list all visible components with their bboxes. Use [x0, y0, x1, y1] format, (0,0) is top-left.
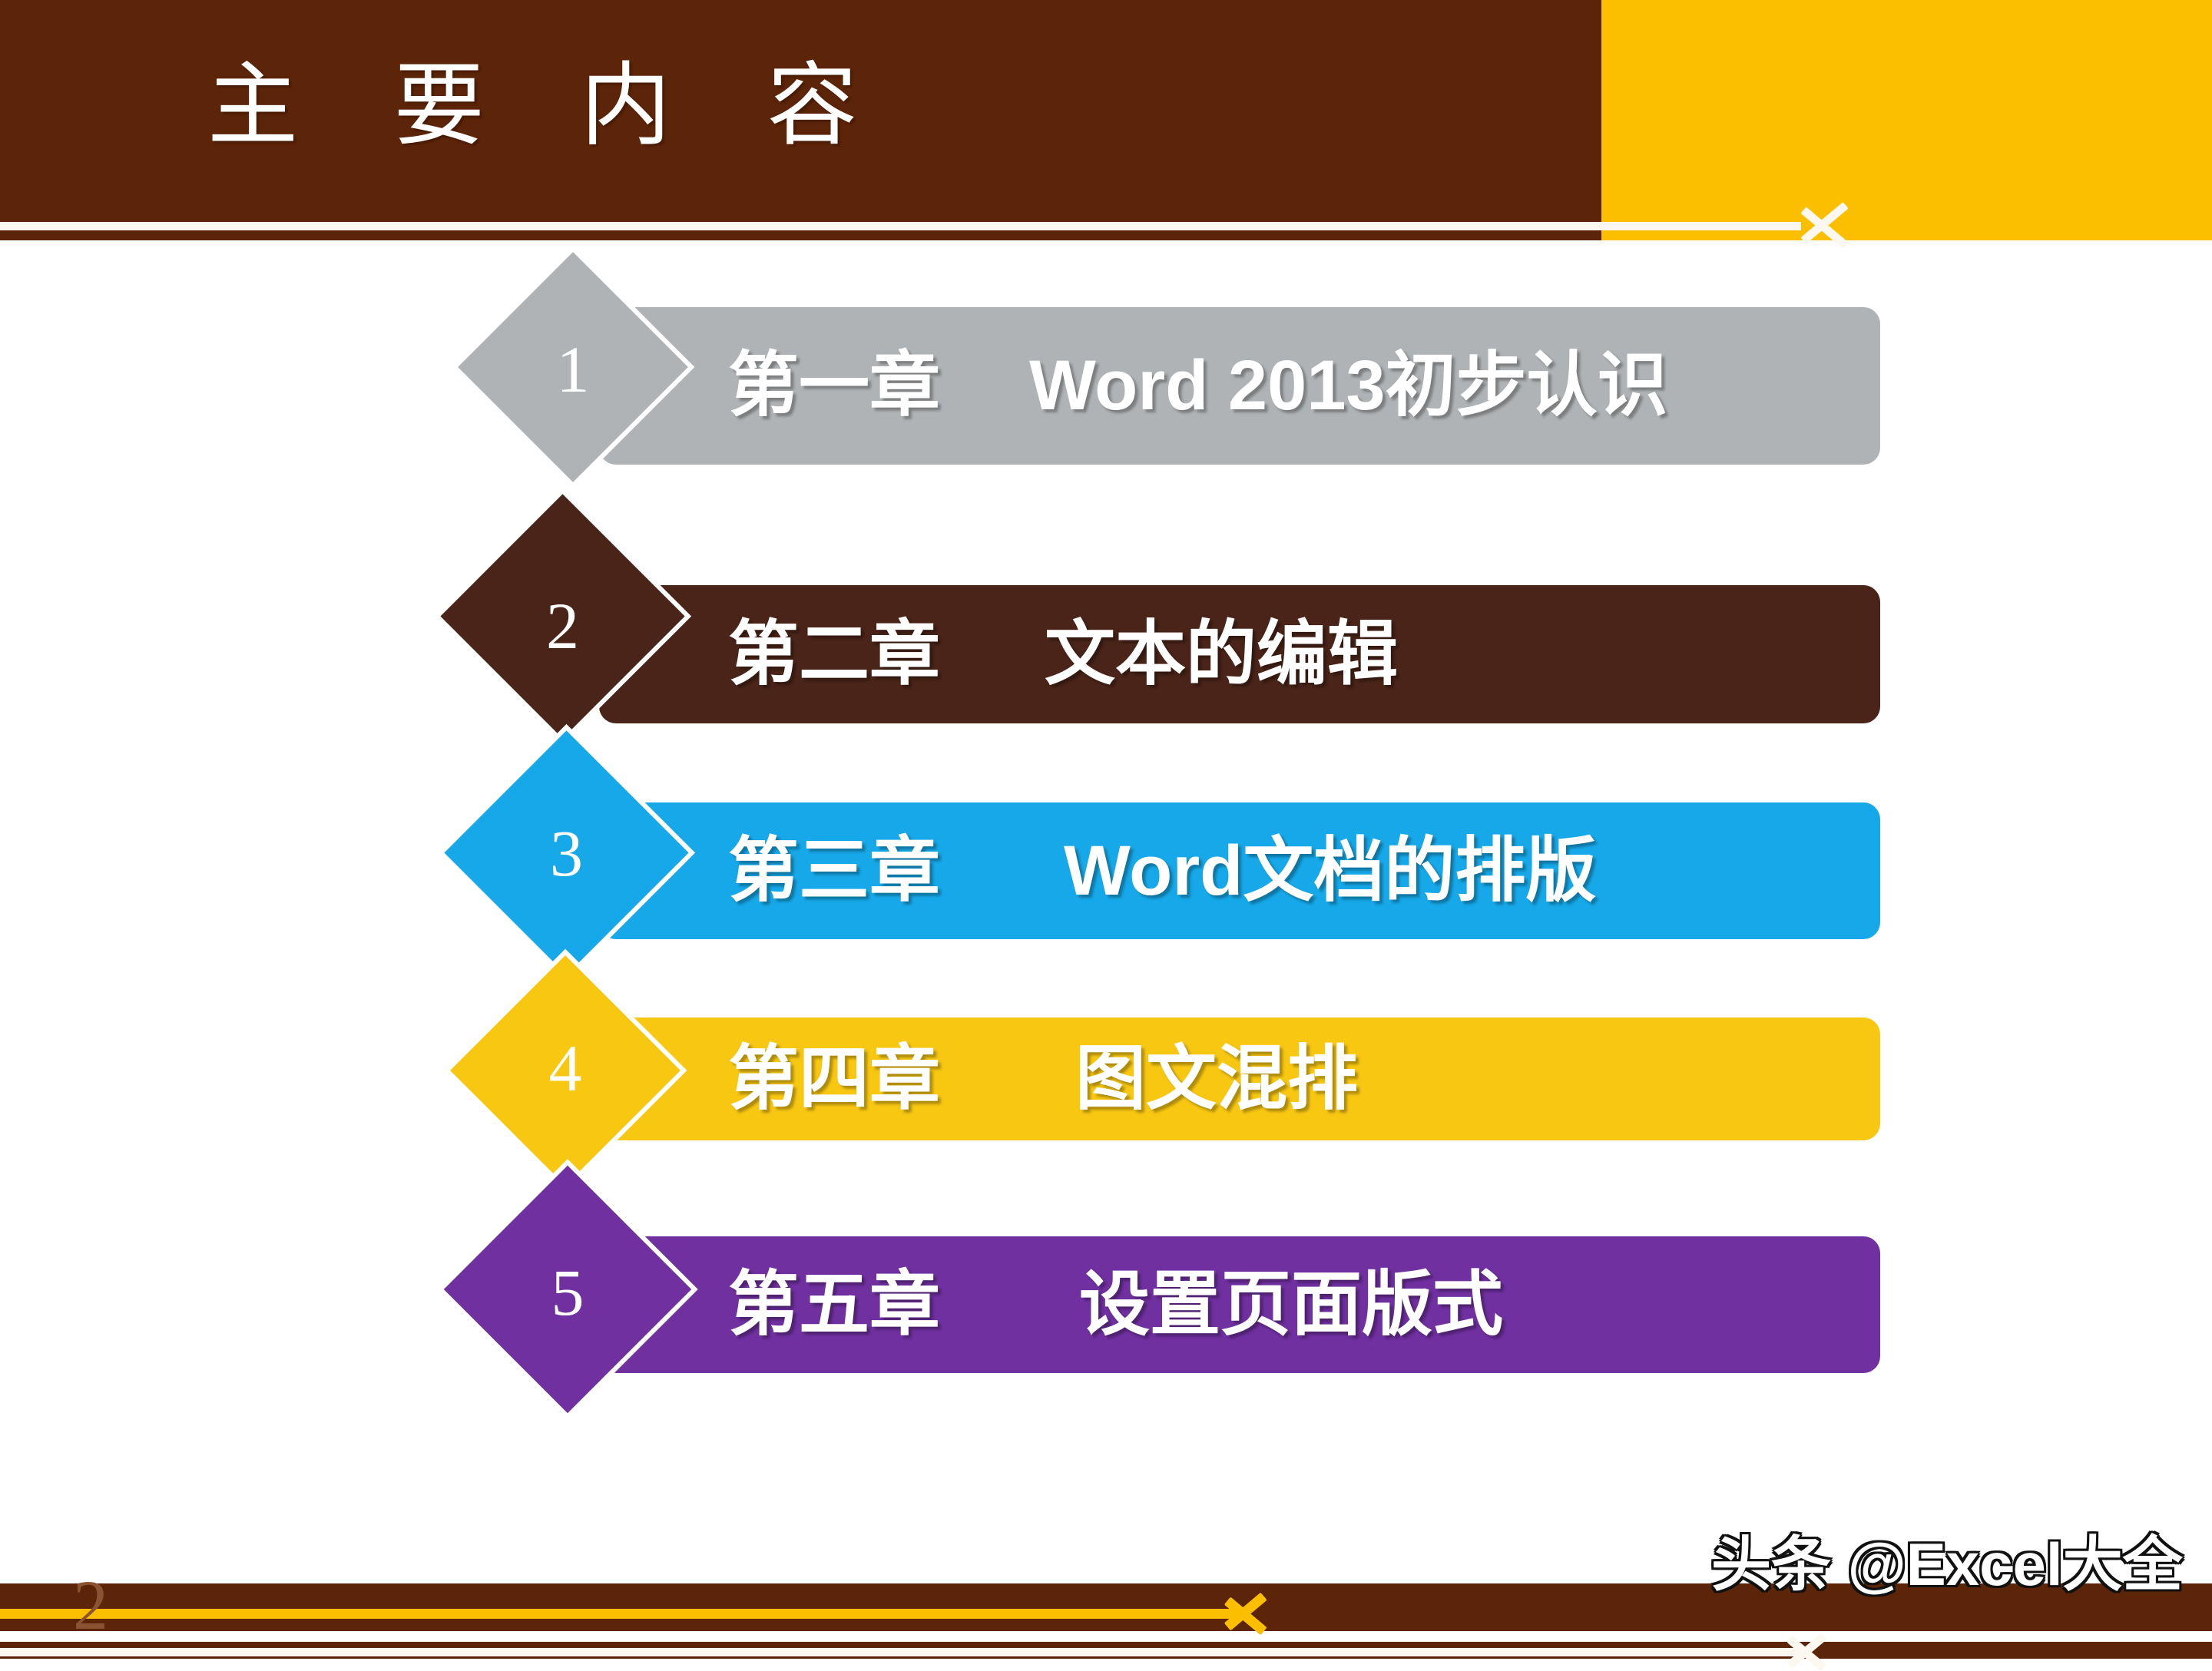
- toc-row-number: 4: [476, 1035, 654, 1101]
- page-number: 2: [73, 1570, 108, 1640]
- footer-white-arrow-shaft: [0, 1648, 1801, 1656]
- footer-yellow-arrow-shaft: [0, 1609, 1240, 1619]
- footer-yellow-arrow-icon: [0, 1600, 1306, 1628]
- toc-row-topic: 文本的编辑: [1045, 610, 1398, 699]
- header-yellow-block: [1601, 0, 2212, 240]
- footer-white-arrow-icon: [0, 1642, 1866, 1660]
- toc-row-topic: Word文档的排版: [1064, 827, 1596, 915]
- toc-row-topic: 设置页面版式: [1079, 1261, 1503, 1349]
- toc-row-number: 5: [472, 1259, 663, 1325]
- toc-row-number: 1: [484, 336, 662, 402]
- toc-row-topic: Word 2013初步认识: [1029, 342, 1668, 430]
- page-title: 主 要 内 容: [207, 37, 1513, 175]
- toc-row-number: 3: [472, 820, 661, 886]
- toc-row-number: 2: [469, 593, 657, 659]
- watermark-label: 头条 @Excel大全: [1711, 1534, 2183, 1594]
- slide-header: 主 要 内 容: [0, 0, 2212, 240]
- toc-row-chapter: 第五章: [728, 1261, 940, 1349]
- toc-row-chapter: 第三章: [728, 827, 940, 915]
- toc-row-chapter: 第二章: [728, 610, 940, 699]
- toc-row-topic: 图文混排: [1075, 1035, 1358, 1123]
- toc-row-chapter: 第四章: [728, 1035, 940, 1123]
- toc-row-chapter: 第一章: [728, 342, 940, 430]
- header-arrow-shaft: [0, 222, 1801, 230]
- header-arrow-icon: [0, 212, 1874, 241]
